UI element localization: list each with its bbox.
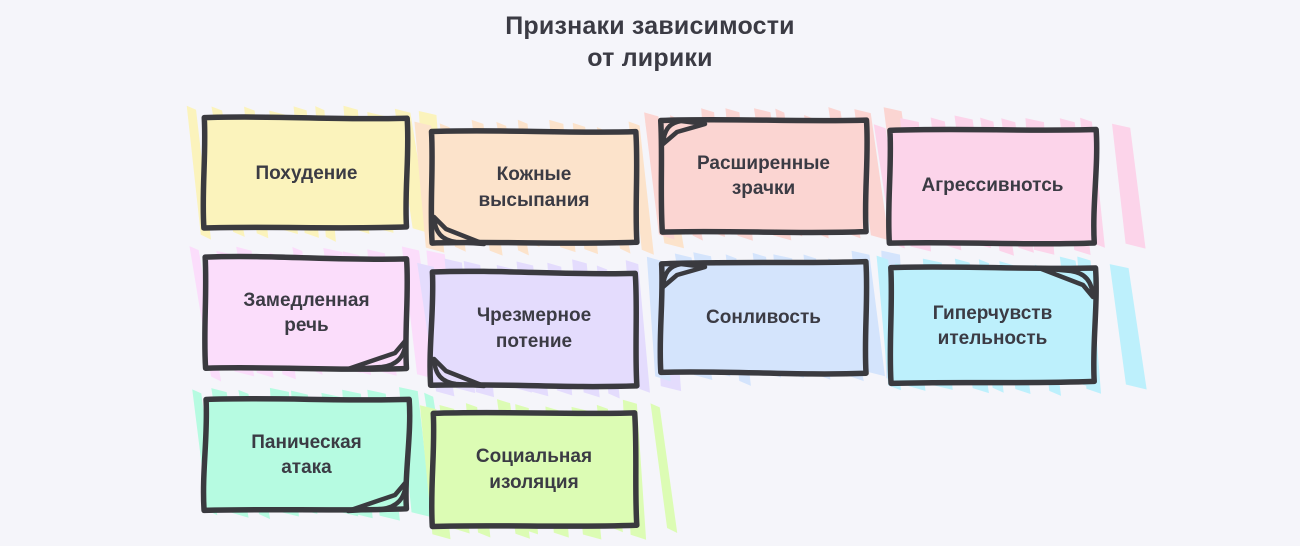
card-body-fill (660, 262, 866, 374)
card-body-fill (204, 399, 410, 511)
card-shape (888, 127, 1097, 245)
card-shape (203, 256, 410, 370)
card-body-fill (890, 267, 1096, 384)
card-body-fill (889, 129, 1097, 243)
card-shape (430, 270, 638, 387)
card-body-fill (203, 117, 408, 228)
card-body-fill (661, 120, 867, 233)
card-shape (888, 267, 1097, 385)
card-body-fill (430, 271, 637, 386)
card-body-fill (431, 131, 637, 243)
card-shape (430, 411, 638, 528)
card-poxudenie[interactable]: Похудение (203, 117, 410, 230)
card-kozhnye-vysypaniya[interactable]: Кожные высыпания (430, 130, 638, 245)
card-giperchuvstvitelnost[interactable]: Гиперчувств ительность (888, 267, 1097, 385)
card-shape (659, 261, 868, 374)
card-body-fill (432, 413, 637, 527)
card-chrezmernoe-potenie[interactable]: Чрезмерное потение (430, 270, 638, 387)
card-agressivnotcz[interactable]: Агрессивнотсь (888, 127, 1097, 245)
card-shape (203, 117, 410, 230)
card-zamedlennaya-rech[interactable]: Замедленная речь (203, 256, 410, 370)
card-shape (203, 398, 410, 512)
card-socialnaya-izolyaciya[interactable]: Социальная изоляция (430, 411, 638, 528)
card-body-fill (205, 256, 408, 369)
symptom-card-board: ПохудениеКожные высыпанияРасширенные зра… (0, 0, 1300, 546)
card-sonlivost[interactable]: Сонливость (659, 261, 868, 374)
card-shape (659, 118, 868, 234)
card-panicheskaya-ataka[interactable]: Паническая атака (203, 398, 410, 512)
card-shape (430, 130, 638, 245)
card-rasshirennye-zrachki[interactable]: Расширенные зрачки (659, 118, 868, 234)
